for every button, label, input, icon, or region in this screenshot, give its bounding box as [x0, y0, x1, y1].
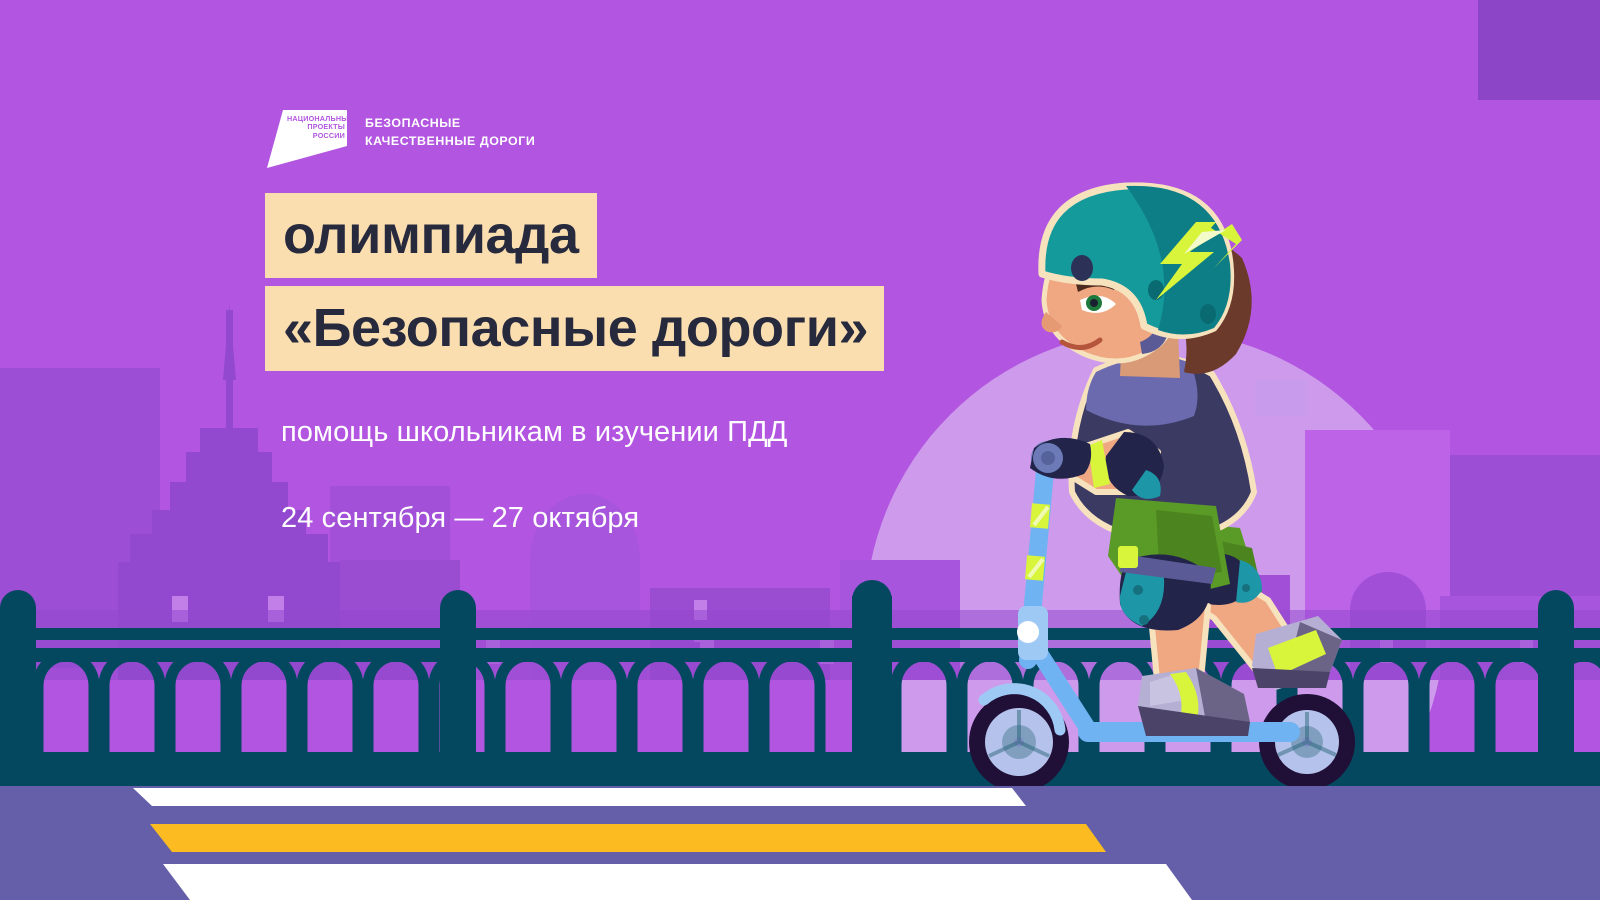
headline-line-2: «Безопасные дороги»: [265, 286, 884, 371]
page-title: олимпиада «Безопасные дороги»: [265, 193, 884, 371]
headline-row-1: олимпиада: [265, 193, 884, 278]
illustration-scene: [0, 0, 1600, 900]
logo-program-line1: БЕЗОПАСНЫЕ: [365, 115, 535, 133]
corner-accent-square: [1478, 0, 1600, 100]
logo-flag-icon: НАЦИОНАЛЬНЫЕ ПРОЕКТЫ РОССИИ: [265, 110, 347, 168]
logo-program-line2: КАЧЕСТВЕННЫЕ ДОРОГИ: [365, 133, 535, 151]
headline-line-1: олимпиада: [265, 193, 597, 278]
poster-banner: НАЦИОНАЛЬНЫЕ ПРОЕКТЫ РОССИИ БЕЗОПАСНЫЕ К…: [0, 0, 1600, 900]
logo-program-name: БЕЗОПАСНЫЕ КАЧЕСТВЕННЫЕ ДОРОГИ: [365, 110, 535, 150]
logo-flag-text: НАЦИОНАЛЬНЫЕ ПРОЕКТЫ РОССИИ: [287, 115, 345, 140]
road: [0, 786, 1600, 900]
subtitle-line-1: помощь школьникам в изучении ПДД: [281, 411, 788, 454]
national-projects-logo: НАЦИОНАЛЬНЫЕ ПРОЕКТЫ РОССИИ БЕЗОПАСНЫЕ К…: [265, 110, 535, 168]
headline-row-2: «Безопасные дороги»: [265, 278, 884, 371]
subtitle-block: помощь школьникам в изучении ПДД 24 сент…: [281, 368, 788, 583]
subtitle-line-2: 24 сентября — 27 октября: [281, 497, 788, 540]
